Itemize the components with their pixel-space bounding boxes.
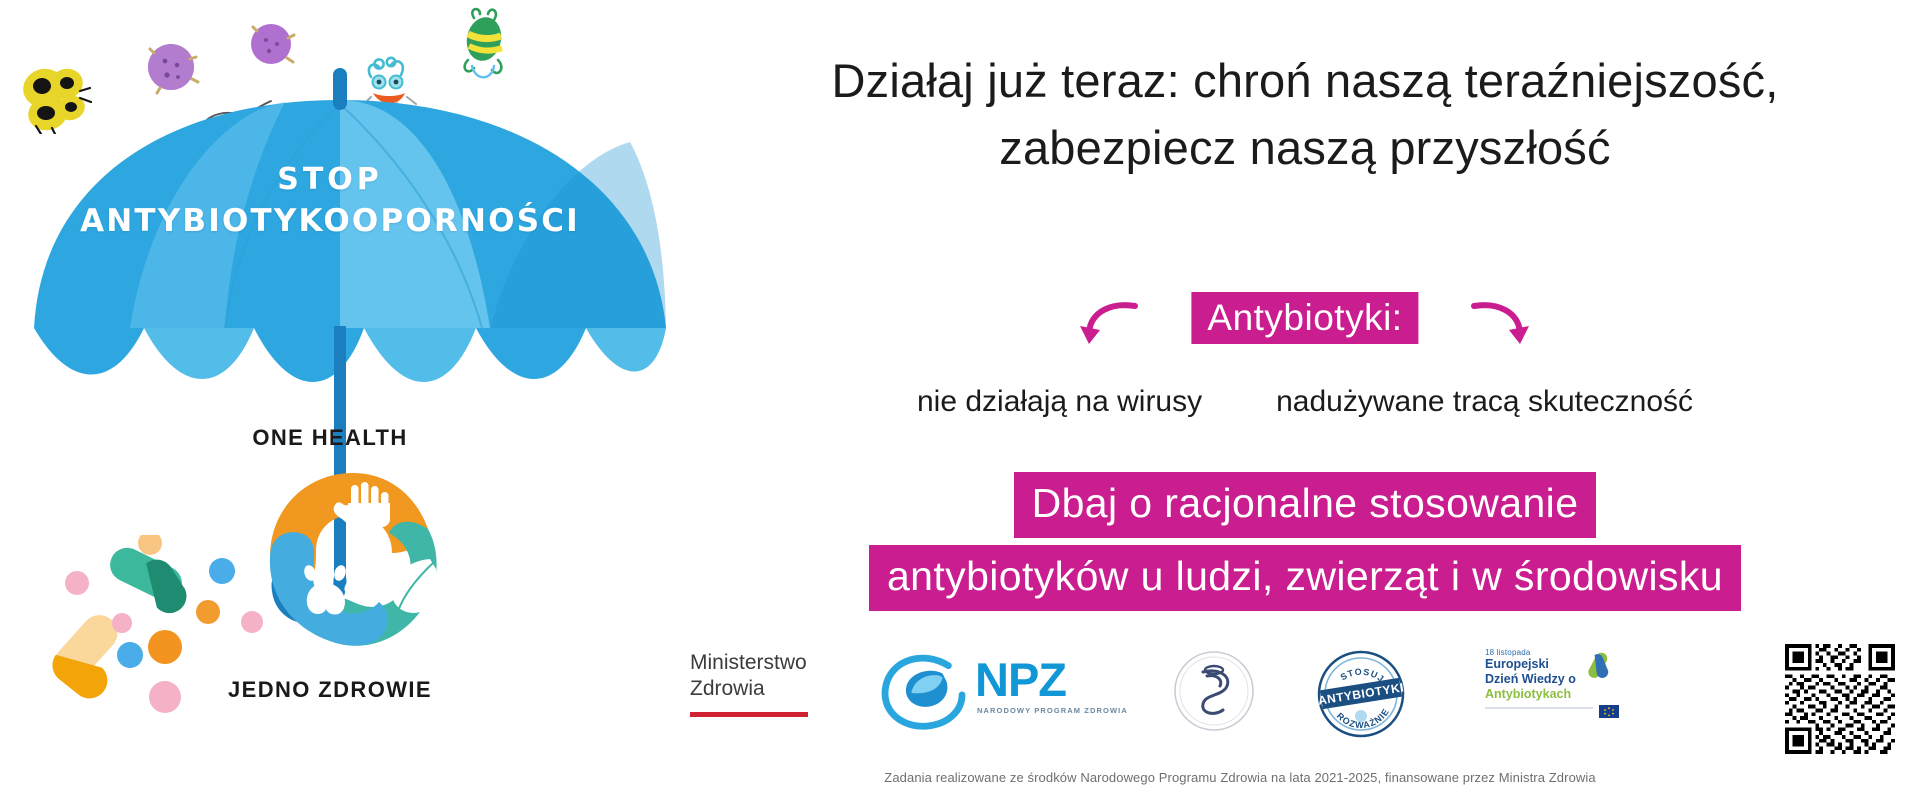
call-to-action-banner: Dbaj o racjonalne stosowanie antybiotykó… [690,472,1920,611]
eaad-line3: Antybiotykach [1485,687,1625,702]
one-health-triskelion-icon [258,465,448,660]
pills-illustration [30,535,280,745]
antibiotics-facts: nie działają na wirusy nadużywane tracą … [690,385,1920,419]
left-illustration-panel: STOP ANTYBIOTYKOOPORNOŚCI ONE HEALTH [0,0,700,810]
arrow-right-curve-icon [1470,298,1532,350]
logo-ministerstwo-zdrowia: Ministerstwo Zdrowia [690,650,855,717]
npz-wordmark: NPZ [975,656,1066,703]
fact-overuse: nadużywane tracą skuteczność [1276,385,1693,419]
eaad-eu-flag-icon [1485,705,1625,719]
one-health-label: ONE HEALTH [0,425,660,451]
logo-stosuj-antybiotyki-rozwaznie: STOSUJ ROZWAŻNIE ANTYBIOTYKI [1315,648,1407,740]
logo-pharmacy-chamber [1173,650,1255,732]
antibiotics-callout: Antybiotyki: [690,292,1920,348]
banner-line1: Dbaj o racjonalne stosowanie [1014,472,1597,538]
ministry-red-rule [690,712,808,717]
poster-root: STOP ANTYBIOTYKOOPORNOŚCI ONE HEALTH [0,0,1920,810]
logo-npz: NPZ NARODOWY PROGRAM ZDROWIA [880,650,1145,730]
ministry-line1: Ministerstwo [690,650,855,676]
leaf-icon [392,559,436,613]
headline-line1: Działaj już teraz: chroń naszą teraźniej… [832,54,1779,107]
antibiotics-label: Antybiotyki: [1191,292,1418,344]
arrow-left-curve-icon [1077,298,1139,350]
banner-line2: antybiotyków u ludzi, zwierząt i w środo… [869,545,1741,611]
ministry-line2: Zdrowia [690,676,855,702]
npz-subtitle: NARODOWY PROGRAM ZDROWIA [977,706,1128,715]
footer-logos: Ministerstwo Zdrowia NPZ NARODOWY PROGRA… [690,640,1920,810]
right-content-panel: Działaj już teraz: chroń naszą teraźniej… [690,0,1920,810]
funding-note: Zadania realizowane ze środków Narodoweg… [690,770,1790,785]
logo-european-antibiotic-awareness-day: 18 listopada Europejski Dzień Wiedzy o A… [1485,648,1625,736]
fact-no-virus: nie działają na wirusy [917,385,1202,419]
headline-line2: zabezpiecz naszą przyszłość [690,115,1920,182]
qr-code[interactable] [1785,644,1895,754]
eaad-pill-icon [1581,648,1621,684]
npz-swirl-icon [880,652,968,730]
page-title: Działaj już teraz: chroń naszą teraźniej… [690,48,1920,181]
